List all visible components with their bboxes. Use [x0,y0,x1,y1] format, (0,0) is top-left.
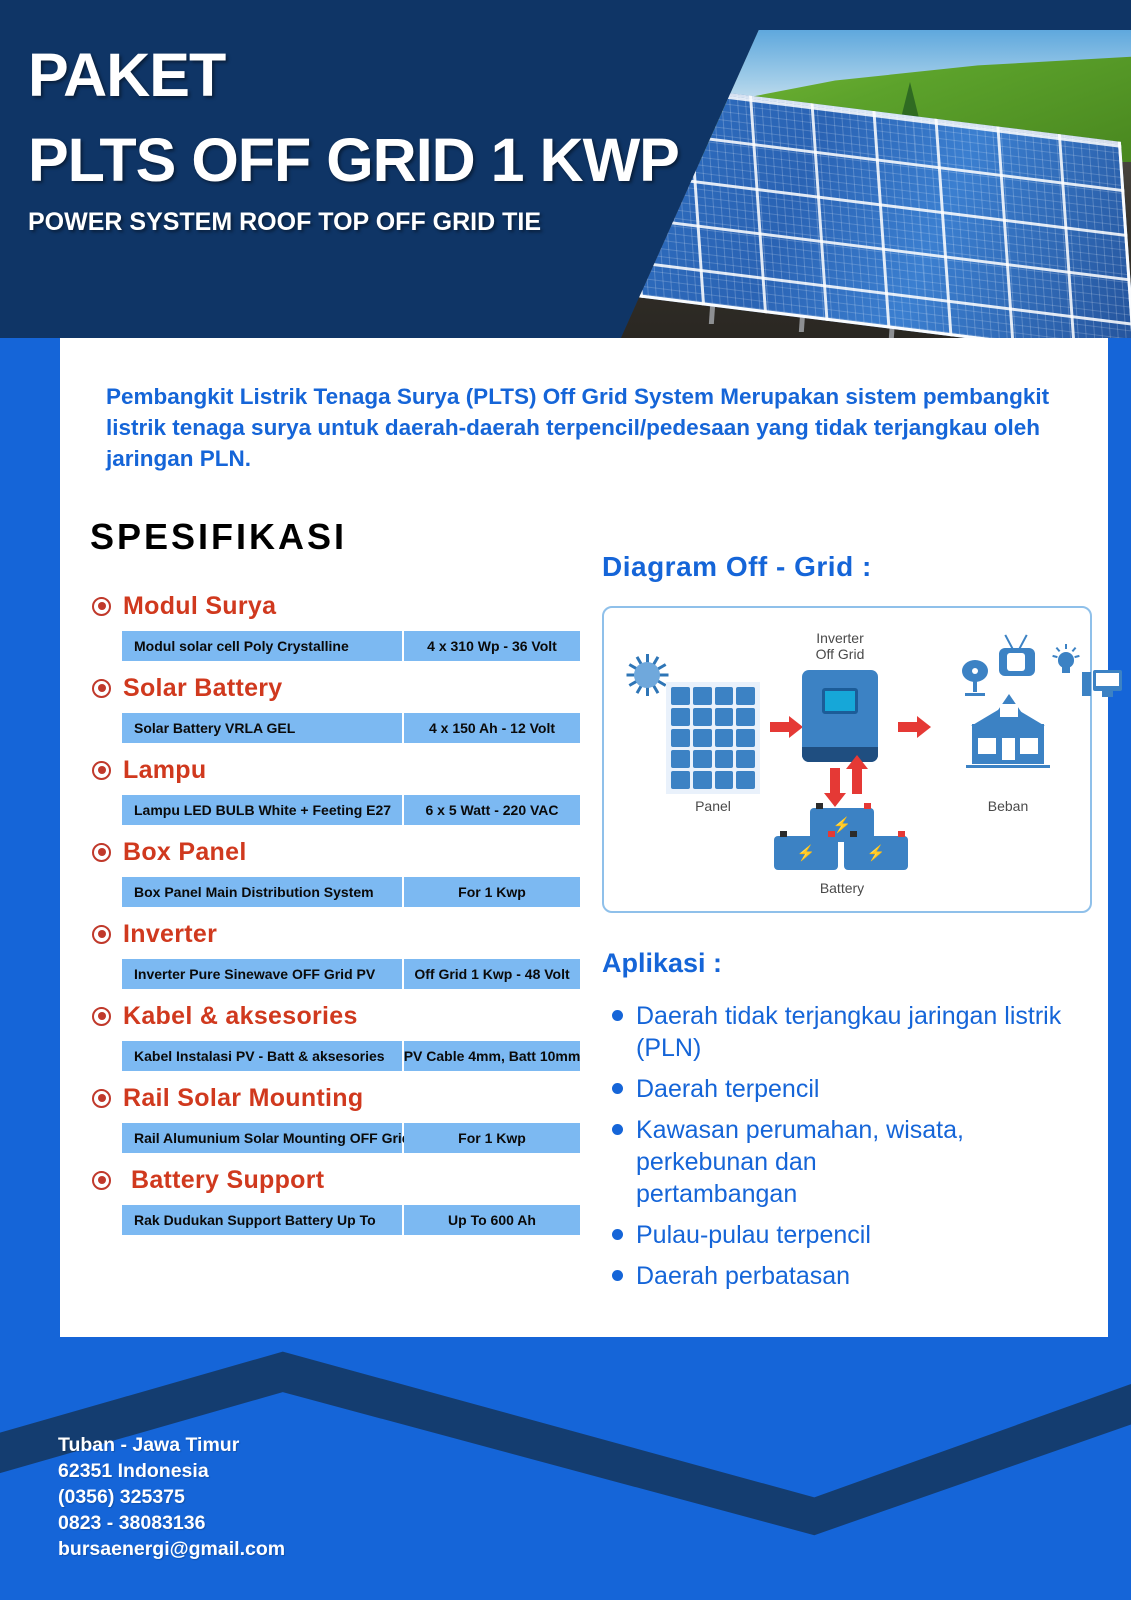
battery-icon: ⚡ [844,836,908,870]
spec-group-label: Box Panel [123,838,247,867]
spec-item-value: PV Cable 4mm, Batt 10mm [404,1041,580,1071]
spec-group-label: Kabel & aksesories [123,1002,358,1031]
diagram-heading: Diagram Off - Grid : [602,551,872,583]
photo-tree-icon [673,74,701,126]
diagram-label-panel: Panel [666,798,760,814]
fan-icon [962,660,988,696]
solar-panel-photo [621,30,1131,338]
bullet-target-icon [92,843,111,862]
bullet-dot-icon [612,1229,623,1240]
aplikasi-heading: Aplikasi : [602,948,722,979]
battery-terminal [898,831,905,837]
bullet-dot-icon [612,1083,623,1094]
arrow-battery-to-inverter-icon [852,768,862,794]
bullet-dot-icon [612,1010,623,1021]
sun-icon [626,654,668,696]
aplikasi-item-text: Daerah perbatasan [636,1260,850,1292]
table-row: Rak Dudukan Support Battery Up To Up To … [122,1205,626,1235]
bullet-target-icon [92,679,111,698]
spec-group: Solar Battery Solar Battery VRLA GEL 4 x… [86,668,626,743]
diagram-label-battery: Battery [772,880,912,896]
spec-item-name: Rak Dudukan Support Battery Up To [122,1205,402,1235]
inverter-icon [802,670,878,762]
spec-group-label: Modul Surya [123,592,276,621]
diagram-label-inverter-line2: Off Grid [790,646,890,662]
list-item: Daerah perbatasan [612,1260,1112,1292]
spec-group-header: Modul Surya [86,586,626,626]
aplikasi-item-text: Kawasan perumahan, wisata, perkebunan da… [636,1114,976,1210]
battery-terminal [864,803,871,809]
table-row: Rail Alumunium Solar Mounting OFF Grid F… [122,1123,626,1153]
content-card: Pembangkit Listrik Tenaga Surya (PLTS) O… [60,338,1108,1337]
solar-panel-icon [666,682,760,794]
spec-item-name: Rail Alumunium Solar Mounting OFF Grid [122,1123,402,1153]
spec-item-name: Lampu LED BULB White + Feeting E27 [122,795,402,825]
table-row: Solar Battery VRLA GEL 4 x 150 Ah - 12 V… [122,713,626,743]
arrow-inverter-to-load-icon [898,722,918,732]
spec-item-value: 4 x 310 Wp - 36 Volt [404,631,580,661]
spec-group-label: Rail Solar Mounting [123,1084,363,1113]
poster-subtitle: POWER SYSTEM ROOF TOP OFF GRID TIE [28,208,541,237]
table-row: Lampu LED BULB White + Feeting E27 6 x 5… [122,795,626,825]
table-row: Modul solar cell Poly Crystalline 4 x 31… [122,631,626,661]
spec-group: Battery Support Rak Dudukan Support Batt… [86,1160,626,1235]
bullet-dot-icon [612,1270,623,1281]
house-icon [964,694,1052,768]
list-item: Daerah tidak terjangkau jaringan listrik… [612,1000,1112,1064]
specification-list: Modul Surya Modul solar cell Poly Crysta… [86,586,626,1242]
aplikasi-item-text: Daerah terpencil [636,1073,819,1105]
bullet-target-icon [92,597,111,616]
left-blue-strip [0,338,60,1400]
footer-contact-block: Tuban - Jawa Timur 62351 Indonesia (0356… [58,1433,285,1563]
tv-icon [999,648,1035,676]
footer-postal: 62351 Indonesia [58,1459,285,1485]
list-item: Pulau-pulau terpencil [612,1219,1112,1251]
spec-group: Rail Solar Mounting Rail Alumunium Solar… [86,1078,626,1153]
spec-item-name: Inverter Pure Sinewave OFF Grid PV [122,959,402,989]
footer-email: bursaenergi@gmail.com [58,1537,285,1563]
battery-terminal [780,831,787,837]
bullet-target-icon [92,761,111,780]
off-grid-diagram: Panel Inverter Off Grid ⚡ ⚡ ⚡ Battery [602,606,1092,913]
spec-group-header: Inverter [86,914,626,954]
inverter-screen-icon [822,688,858,714]
intro-paragraph: Pembangkit Listrik Tenaga Surya (PLTS) O… [106,382,1071,474]
spec-group-header: Kabel & aksesories [86,996,626,1036]
list-item: Daerah terpencil [612,1073,1112,1105]
battery-bank-icon: ⚡ ⚡ ⚡ [772,804,912,876]
spec-item-value: Off Grid 1 Kwp - 48 Volt [404,959,580,989]
spec-item-name: Solar Battery VRLA GEL [122,713,402,743]
table-row: Box Panel Main Distribution System For 1… [122,877,626,907]
spec-group: Box Panel Box Panel Main Distribution Sy… [86,832,626,907]
spec-group: Inverter Inverter Pure Sinewave OFF Grid… [86,914,626,989]
poster-header: PAKET PLTS OFF GRID 1 KWP POWER SYSTEM R… [0,0,1131,338]
spec-item-value: For 1 Kwp [404,1123,580,1153]
bullet-target-icon [92,925,111,944]
battery-terminal [850,831,857,837]
battery-icon: ⚡ [774,836,838,870]
spec-group-header: Solar Battery [86,668,626,708]
spec-group: Lampu Lampu LED BULB White + Feeting E27… [86,750,626,825]
aplikasi-list: Daerah tidak terjangkau jaringan listrik… [612,1000,1112,1301]
spec-group: Modul Surya Modul solar cell Poly Crysta… [86,586,626,661]
spec-group-header: Lampu [86,750,626,790]
arrow-panel-to-inverter-icon [770,722,790,732]
spec-item-name: Box Panel Main Distribution System [122,877,402,907]
footer-mobile: 0823 - 38083136 [58,1511,285,1537]
footer-phone: (0356) 325375 [58,1485,285,1511]
spesifikasi-heading: SPESIFIKASI [90,516,347,558]
diagram-label-load: Beban [964,798,1052,814]
table-row: Inverter Pure Sinewave OFF Grid PV Off G… [122,959,626,989]
arrow-inverter-to-battery-icon [830,768,840,794]
bullet-target-icon [92,1007,111,1026]
spec-group-label: Solar Battery [123,674,283,703]
battery-terminal [828,831,835,837]
spec-item-value: 6 x 5 Watt - 220 VAC [404,795,580,825]
poster-title-line2: PLTS OFF GRID 1 KWP [28,125,679,195]
table-row: Kabel Instalasi PV - Batt & aksesories P… [122,1041,626,1071]
bullet-target-icon [92,1171,111,1190]
spec-group-header: Box Panel [86,832,626,872]
aplikasi-item-text: Pulau-pulau terpencil [636,1219,871,1251]
diagram-label-inverter-line1: Inverter [790,630,890,646]
spec-item-value: For 1 Kwp [404,877,580,907]
lightbulb-icon [1056,648,1076,676]
spec-item-name: Kabel Instalasi PV - Batt & aksesories [122,1041,402,1071]
computer-icon [1082,670,1122,700]
list-item: Kawasan perumahan, wisata, perkebunan da… [612,1114,1112,1210]
poster-title-line1: PAKET [28,40,225,110]
spec-group-header: Rail Solar Mounting [86,1078,626,1118]
spec-group-label: Inverter [123,920,217,949]
spec-item-name: Modul solar cell Poly Crystalline [122,631,402,661]
battery-terminal [816,803,823,809]
spec-group-header: Battery Support [86,1160,626,1200]
spec-group: Kabel & aksesories Kabel Instalasi PV - … [86,996,626,1071]
aplikasi-item-text: Daerah tidak terjangkau jaringan listrik… [636,1000,1112,1064]
bullet-target-icon [92,1089,111,1108]
spec-item-value: Up To 600 Ah [404,1205,580,1235]
spec-group-label: Battery Support [131,1166,324,1195]
spec-item-value: 4 x 150 Ah - 12 Volt [404,713,580,743]
footer-city: Tuban - Jawa Timur [58,1433,285,1459]
bullet-dot-icon [612,1124,623,1135]
spec-group-label: Lampu [123,756,206,785]
